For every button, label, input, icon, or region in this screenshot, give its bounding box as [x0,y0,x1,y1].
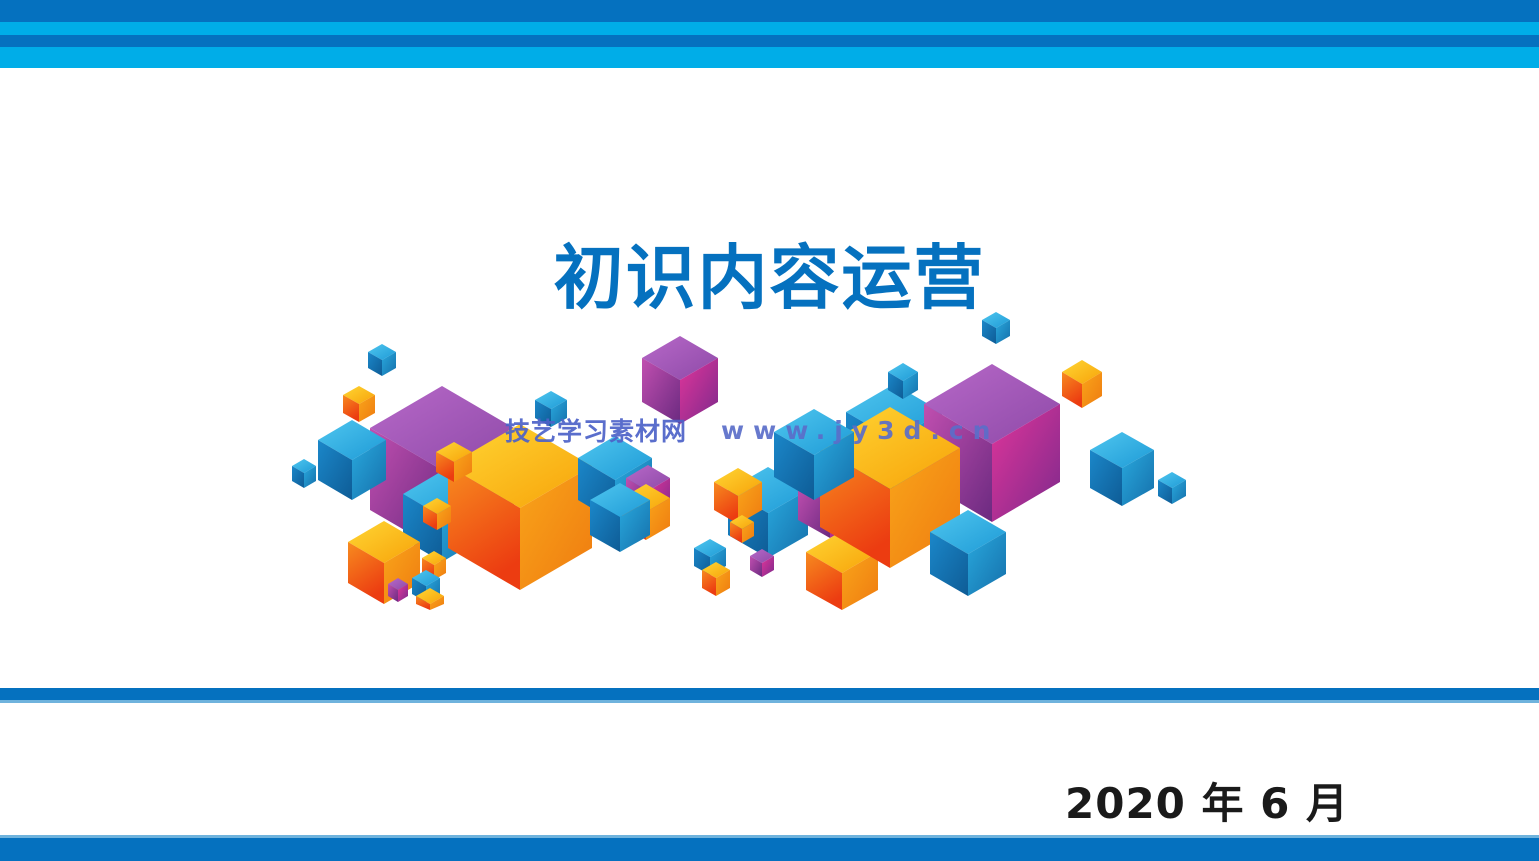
cube-small-blue-1 [368,344,396,376]
top-stripe-dark-2 [0,35,1539,47]
footer-stripe-light [0,700,1539,703]
presentation-slide: 初识内容运营 [0,0,1539,861]
cube-tiny-blue-1 [292,459,316,488]
cube-tiny-blue-17 [1158,472,1186,504]
footer-stripe-dark [0,688,1539,700]
cube-medium-blue-16 [1090,432,1154,506]
cube-tiny-blue-12 [982,312,1010,344]
bottom-stripe-dark [0,838,1539,861]
isometric-cube-cluster-graphic [290,300,1220,610]
top-stripe-light-1 [0,22,1539,35]
top-stripe-dark-1 [0,0,1539,22]
cube-small-blue-2 [535,391,567,427]
cube-medium-purple-2 [642,336,718,424]
slide-date: 2020 年 6 月 [1065,770,1349,831]
cube-small-orange-14 [1062,360,1102,408]
cube-small-orange-1 [343,386,375,422]
top-stripe-light-2 [0,47,1539,68]
